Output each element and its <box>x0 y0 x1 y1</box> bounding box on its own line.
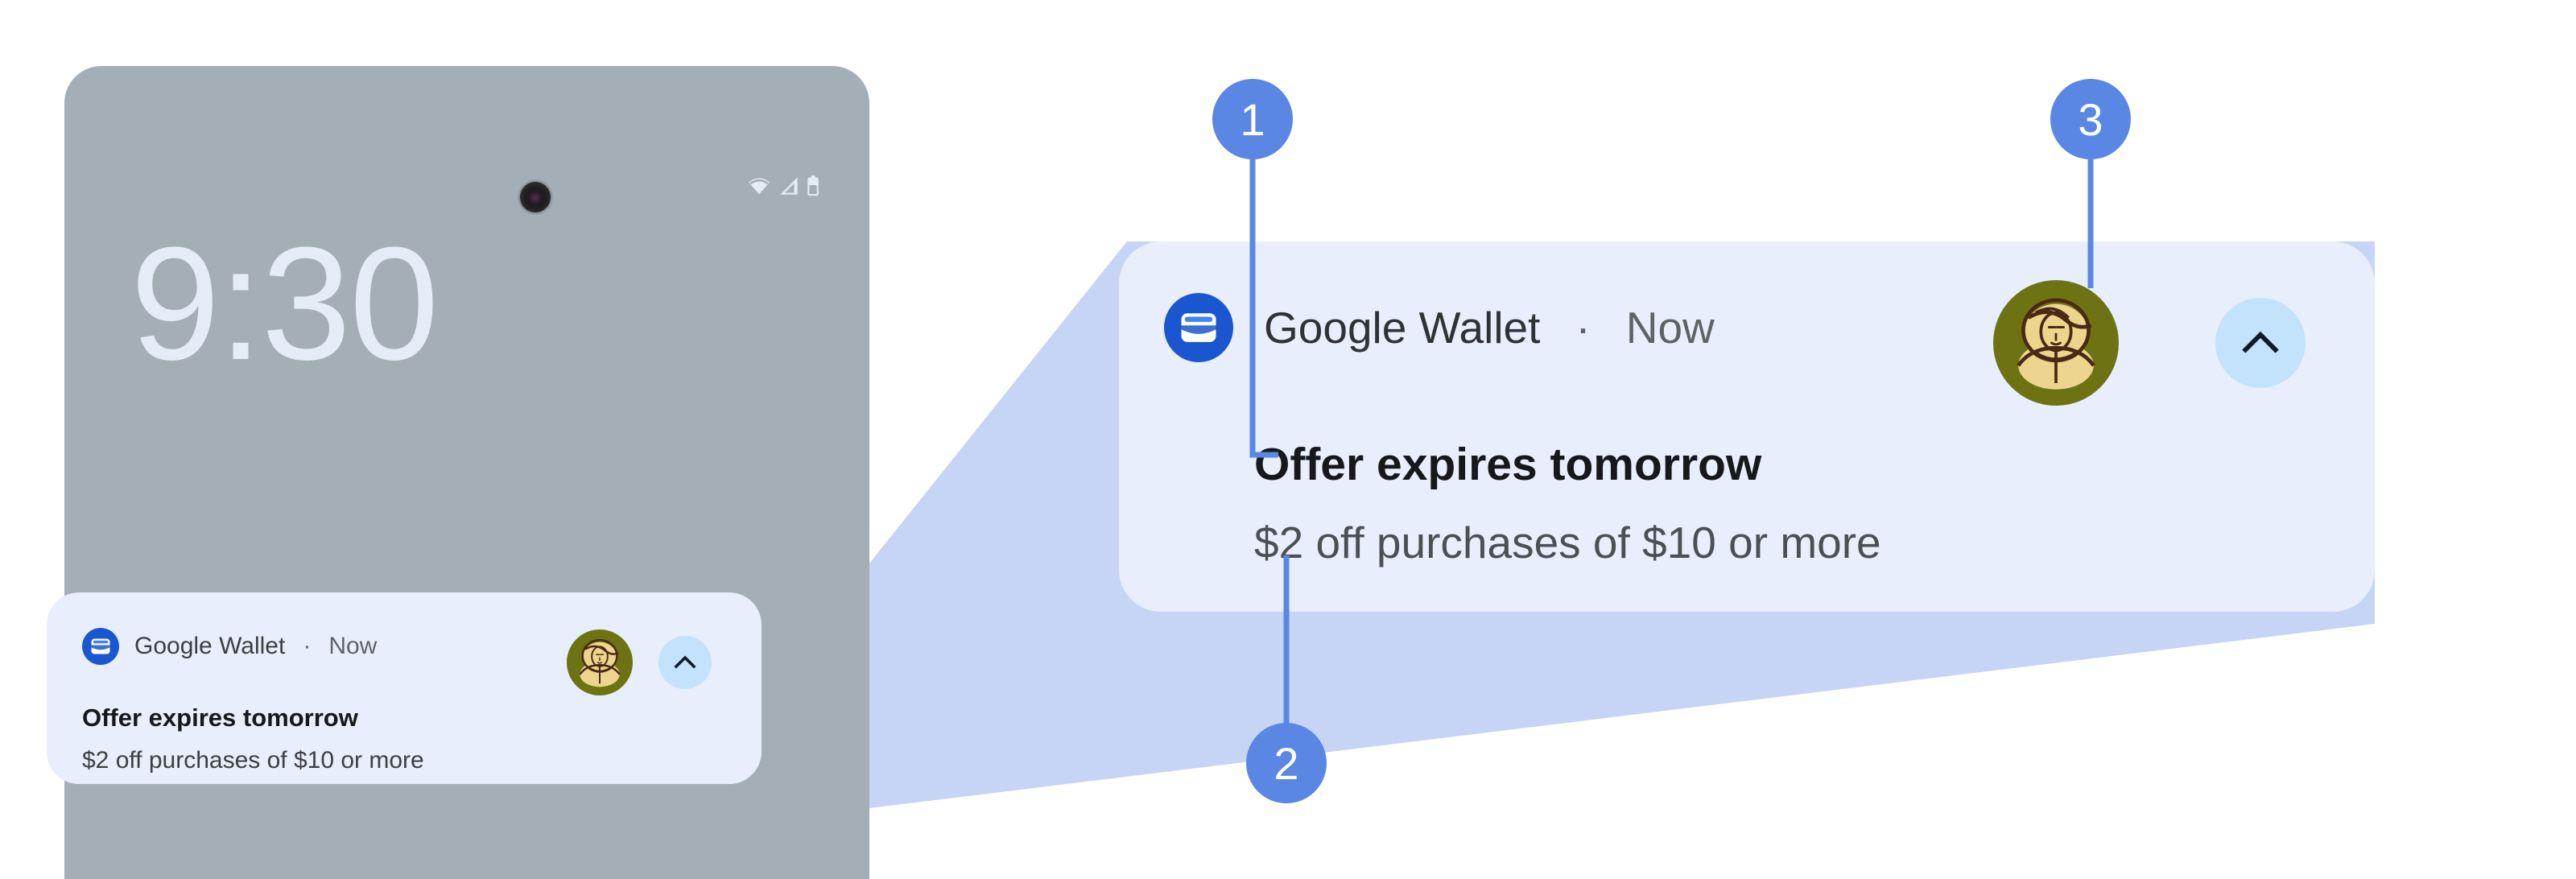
callout-badge-number: 3 <box>2078 93 2103 146</box>
notification-body: $2 off purchases of $10 or more <box>82 747 424 774</box>
cellular-signal-icon <box>778 176 799 196</box>
callout-badge-number: 2 <box>1274 737 1298 790</box>
google-wallet-icon <box>1164 293 1233 362</box>
notification-title: Offer expires tomorrow <box>82 704 358 732</box>
notification-separator: · <box>303 633 311 660</box>
notification-app-name: Google Wallet <box>1264 302 1540 353</box>
notification-expand-button[interactable] <box>658 636 712 689</box>
lock-screen-clock: 9:30 <box>130 224 437 385</box>
callout-badge-number: 1 <box>1240 93 1265 146</box>
notification-timestamp: Now <box>1626 302 1715 353</box>
notification-header-large: Google Wallet · Now <box>1164 293 1715 362</box>
notification-expand-button[interactable] <box>2215 298 2306 388</box>
wifi-icon <box>747 176 771 196</box>
notification-app-name: Google Wallet <box>134 633 285 660</box>
notification-timestamp: Now <box>328 633 377 660</box>
illustration-stage: 9:30 Google Wallet · Now Offer expires t… <box>0 0 2576 863</box>
notification-separator: · <box>1575 302 1590 353</box>
merchant-avatar[interactable] <box>567 629 633 695</box>
notification-card-large[interactable]: Google Wallet · Now <box>1119 241 2375 612</box>
callout-badge-2[interactable]: 2 <box>1246 723 1327 803</box>
callout-badge-3[interactable]: 3 <box>2050 79 2131 159</box>
merchant-avatar[interactable] <box>1993 280 2119 406</box>
notification-header-small: Google Wallet · Now <box>82 628 377 665</box>
google-wallet-icon <box>82 628 119 665</box>
callout-badge-1[interactable]: 1 <box>1212 79 1293 159</box>
status-bar-icons <box>747 175 819 196</box>
notification-card-small[interactable]: Google Wallet · Now Offer expires tomorr… <box>47 592 762 784</box>
battery-icon <box>807 175 819 196</box>
front-camera-punch-hole-icon <box>520 182 551 213</box>
